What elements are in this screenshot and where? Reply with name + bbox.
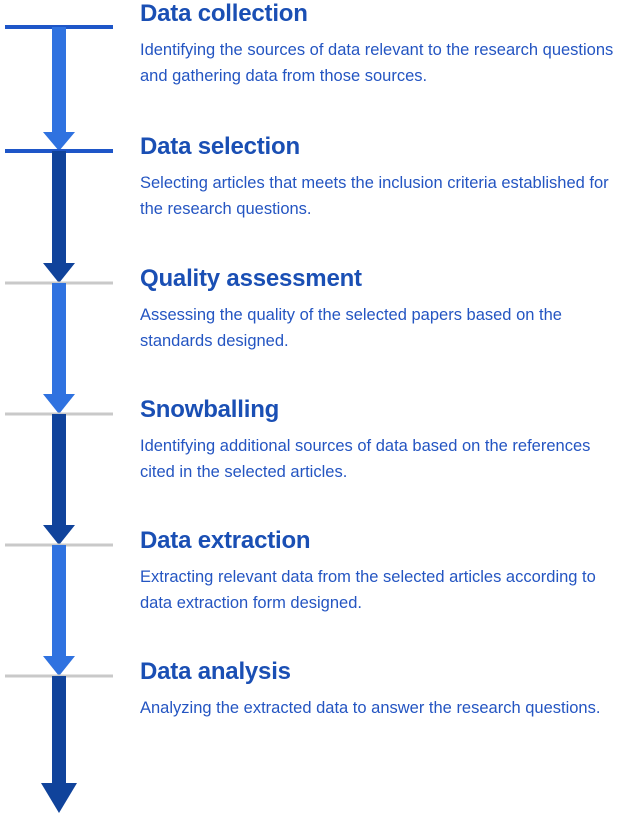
arrow-down-icon-6 <box>41 783 77 813</box>
timeline-segment-1 <box>5 27 113 151</box>
step-description-1: Identifying the sources of data relevant… <box>140 28 622 89</box>
step-description-3: Assessing the quality of the selected pa… <box>140 293 622 354</box>
step-item-5: Data extraction Extracting relevant data… <box>140 527 630 616</box>
timeline-segment-5 <box>5 545 113 676</box>
arrow-shaft-5 <box>52 545 66 656</box>
arrow-down-icon-1 <box>43 132 75 151</box>
step-description-6: Analyzing the extracted data to answer t… <box>140 686 622 721</box>
process-timeline-diagram: Data collection Identifying the sources … <box>0 0 630 817</box>
step-description-2: Selecting articles that meets the inclus… <box>140 161 622 222</box>
step-list: Data collection Identifying the sources … <box>140 0 630 817</box>
step-title-6: Data analysis <box>140 658 630 686</box>
timeline-segment-3 <box>5 283 113 414</box>
arrow-shaft-6 <box>52 676 66 783</box>
step-title-1: Data collection <box>140 0 630 28</box>
step-item-1: Data collection Identifying the sources … <box>140 0 630 89</box>
arrow-down-icon-3 <box>43 394 75 414</box>
step-item-6: Data analysis Analyzing the extracted da… <box>140 658 630 721</box>
arrow-down-icon-5 <box>43 656 75 676</box>
step-description-4: Identifying additional sources of data b… <box>140 424 622 485</box>
step-item-2: Data selection Selecting articles that m… <box>140 133 630 222</box>
arrow-shaft-3 <box>52 283 66 394</box>
step-title-2: Data selection <box>140 133 630 161</box>
timeline-segment-6 <box>5 676 113 813</box>
arrow-down-icon-2 <box>43 263 75 283</box>
timeline-rail <box>0 0 130 817</box>
step-item-4: Snowballing Identifying additional sourc… <box>140 396 630 485</box>
arrow-shaft-2 <box>52 151 66 263</box>
arrow-shaft-1 <box>52 27 66 132</box>
step-title-4: Snowballing <box>140 396 630 424</box>
timeline-segment-4 <box>5 414 113 545</box>
timeline-segment-2 <box>5 151 113 283</box>
step-title-5: Data extraction <box>140 527 630 555</box>
step-title-3: Quality assessment <box>140 265 630 293</box>
arrow-shaft-4 <box>52 414 66 525</box>
arrow-down-icon-4 <box>43 525 75 545</box>
step-description-5: Extracting relevant data from the select… <box>140 555 622 616</box>
step-item-3: Quality assessment Assessing the quality… <box>140 265 630 354</box>
